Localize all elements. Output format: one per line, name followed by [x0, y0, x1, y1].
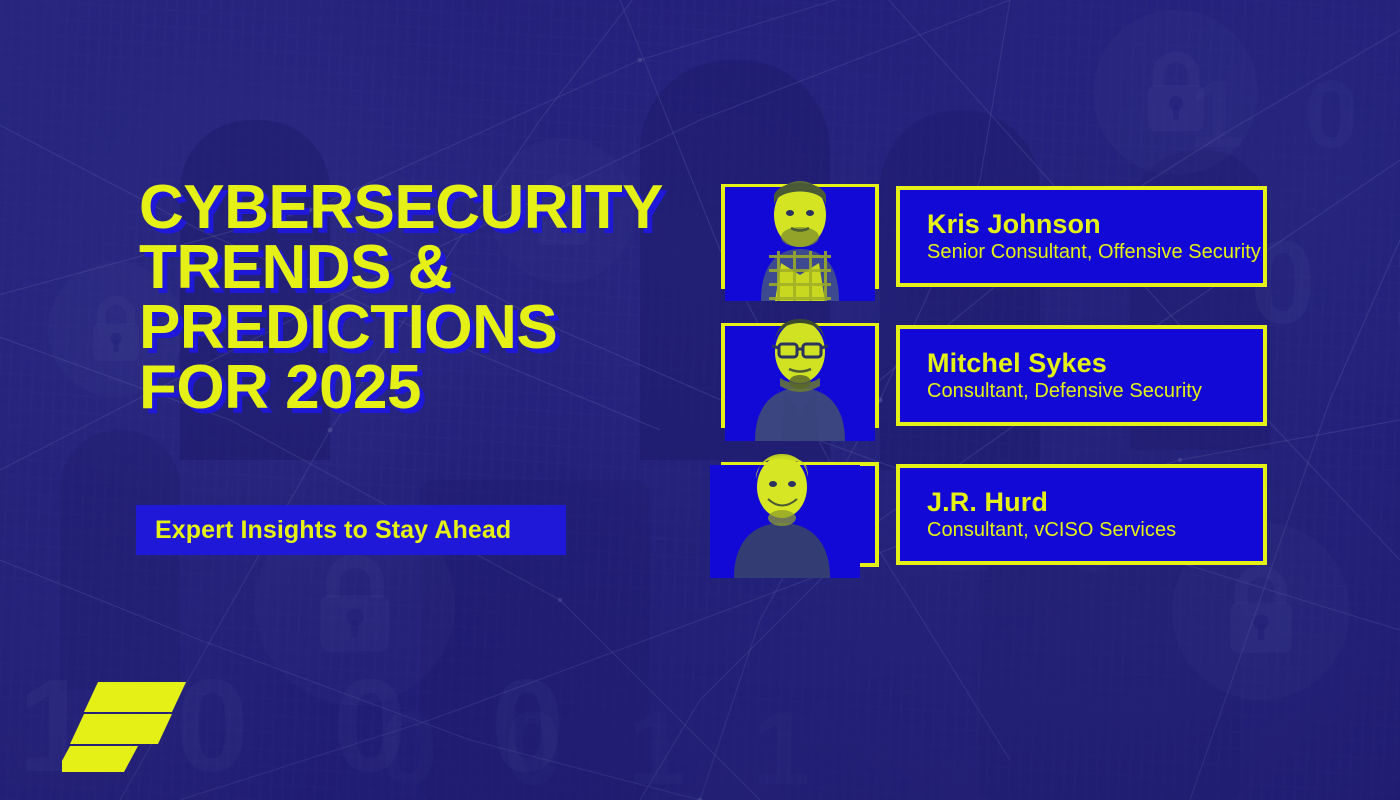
speaker-row[interactable]: Mitchel Sykes Consultant, Defensive Secu…: [721, 323, 1267, 428]
portrait-jr-hurd: [710, 423, 860, 578]
portrait-mitchel-sykes: [725, 286, 875, 441]
avatar: [721, 184, 879, 289]
subtitle-text: Expert Insights to Stay Ahead: [136, 516, 511, 545]
page-title-line-2: TRENDS &: [139, 238, 719, 298]
speaker-name: Kris Johnson: [927, 209, 1263, 239]
page-title-line-4: FOR 2025: [139, 358, 719, 418]
speaker-title: Consultant, Defensive Security: [927, 379, 1263, 403]
avatar: [721, 462, 879, 567]
speaker-title: Consultant, vCISO Services: [927, 518, 1263, 542]
promo-banner: 1 0 0 0 0 1 0 1 0 1 0 0 1 1 1 0: [0, 0, 1400, 800]
page-title: CYBERSECURITY TRENDS & PREDICTIONS FOR 2…: [139, 178, 719, 419]
speaker-name: Mitchel Sykes: [927, 348, 1263, 378]
avatar: [721, 323, 879, 428]
speaker-row[interactable]: Kris Johnson Senior Consultant, Offensiv…: [721, 184, 1267, 289]
speaker-name-card: J.R. Hurd Consultant, vCISO Services: [896, 464, 1267, 565]
speaker-name-card: Mitchel Sykes Consultant, Defensive Secu…: [896, 325, 1267, 426]
speaker-name-card: Kris Johnson Senior Consultant, Offensiv…: [896, 186, 1267, 287]
page-title-line-1: CYBERSECURITY: [139, 178, 719, 238]
page-title-line-3: PREDICTIONS: [139, 298, 719, 358]
subtitle-banner: Expert Insights to Stay Ahead: [136, 505, 566, 555]
company-logo-icon: [62, 678, 192, 773]
portrait-kris-johnson: [725, 151, 875, 301]
speaker-name: J.R. Hurd: [927, 487, 1263, 517]
speaker-row[interactable]: J.R. Hurd Consultant, vCISO Services: [721, 462, 1267, 567]
speaker-title: Senior Consultant, Offensive Security: [927, 240, 1263, 264]
